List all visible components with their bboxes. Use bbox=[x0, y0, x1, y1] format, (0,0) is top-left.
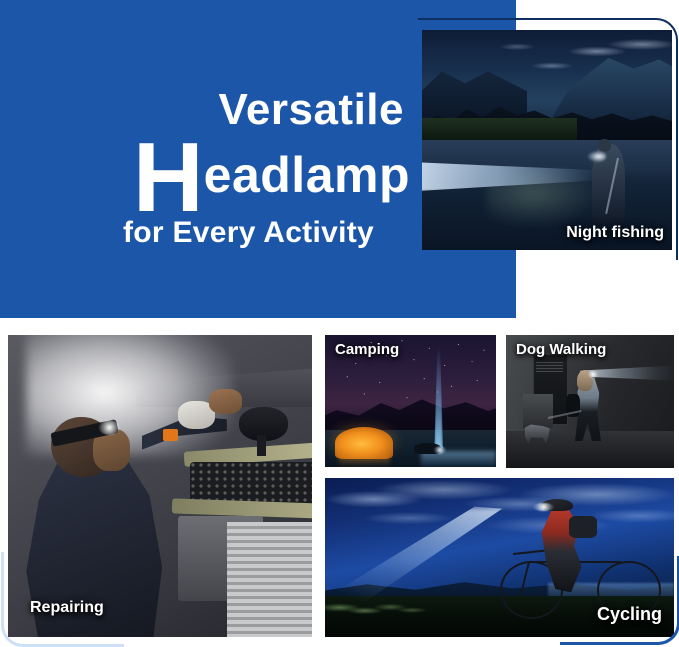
panel-night-fishing: Night fishing bbox=[422, 30, 672, 250]
headlamp-icon bbox=[99, 420, 120, 435]
caption-repairing: Repairing bbox=[30, 599, 104, 617]
caption-camping: Camping bbox=[335, 341, 399, 358]
headline-line-subtitle: for Every Activity bbox=[0, 218, 374, 248]
caption-dog-walking: Dog Walking bbox=[516, 341, 606, 358]
backpack bbox=[569, 516, 597, 538]
panel-repairing: Repairing bbox=[8, 335, 312, 637]
promo-image-stage: Versatile Headlamp for Every Activity Ni… bbox=[0, 0, 679, 645]
panel-cycling: Cycling bbox=[325, 478, 674, 637]
headline-headlamp-rest: eadlamp bbox=[204, 147, 410, 203]
technician-hand bbox=[209, 389, 242, 413]
angler-head bbox=[598, 139, 611, 152]
utility-box bbox=[523, 394, 553, 429]
caption-night-fishing: Night fishing bbox=[566, 224, 664, 242]
headline-line-headlamp: Headlamp bbox=[0, 128, 410, 226]
panel-dog-walking: Dog Walking bbox=[506, 335, 674, 468]
lit-grass bbox=[325, 592, 506, 617]
wall-vent bbox=[536, 362, 563, 373]
headlamp-icon bbox=[588, 371, 598, 378]
repairing-scene bbox=[8, 335, 312, 637]
wristband bbox=[163, 429, 178, 441]
panel-camping: Camping bbox=[325, 335, 496, 467]
caption-cycling: Cycling bbox=[597, 604, 662, 625]
tent-reflection bbox=[339, 454, 390, 467]
fan-downrod bbox=[257, 435, 266, 456]
night-fishing-scene bbox=[422, 30, 672, 250]
fan-grille bbox=[190, 462, 312, 504]
headlamp-icon bbox=[588, 151, 606, 162]
window-blinds bbox=[227, 522, 312, 637]
